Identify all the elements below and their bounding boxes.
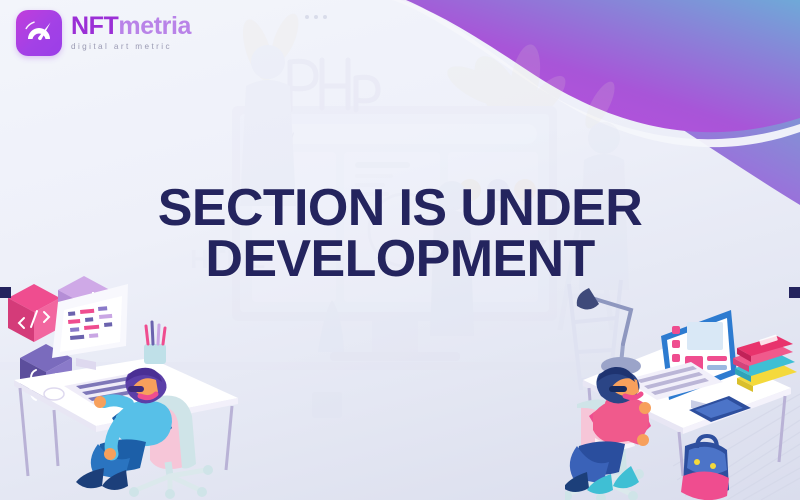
under-development-banner: www [0, 0, 800, 500]
brand-name-part1: NFT [71, 12, 118, 40]
dot [323, 15, 327, 19]
code-tag-tile [8, 284, 60, 342]
page-title-line1: SECTION IS UNDER [158, 179, 642, 237]
developer-at-desktop-illustration [0, 270, 245, 500]
brand-name-part2: metria [118, 12, 191, 40]
right-edge-marker [789, 287, 800, 298]
brand-name: NFTmetria [71, 14, 191, 39]
brand-logo[interactable]: NFTmetria digital art metric [16, 10, 191, 56]
speedometer-gauge-icon [16, 10, 62, 56]
dot [314, 15, 318, 19]
decorative-dots [305, 15, 327, 19]
brand-tagline: digital art metric [71, 43, 191, 51]
left-edge-marker [0, 287, 11, 298]
student-developer-at-desk-illustration [565, 270, 800, 500]
dot [305, 15, 309, 19]
